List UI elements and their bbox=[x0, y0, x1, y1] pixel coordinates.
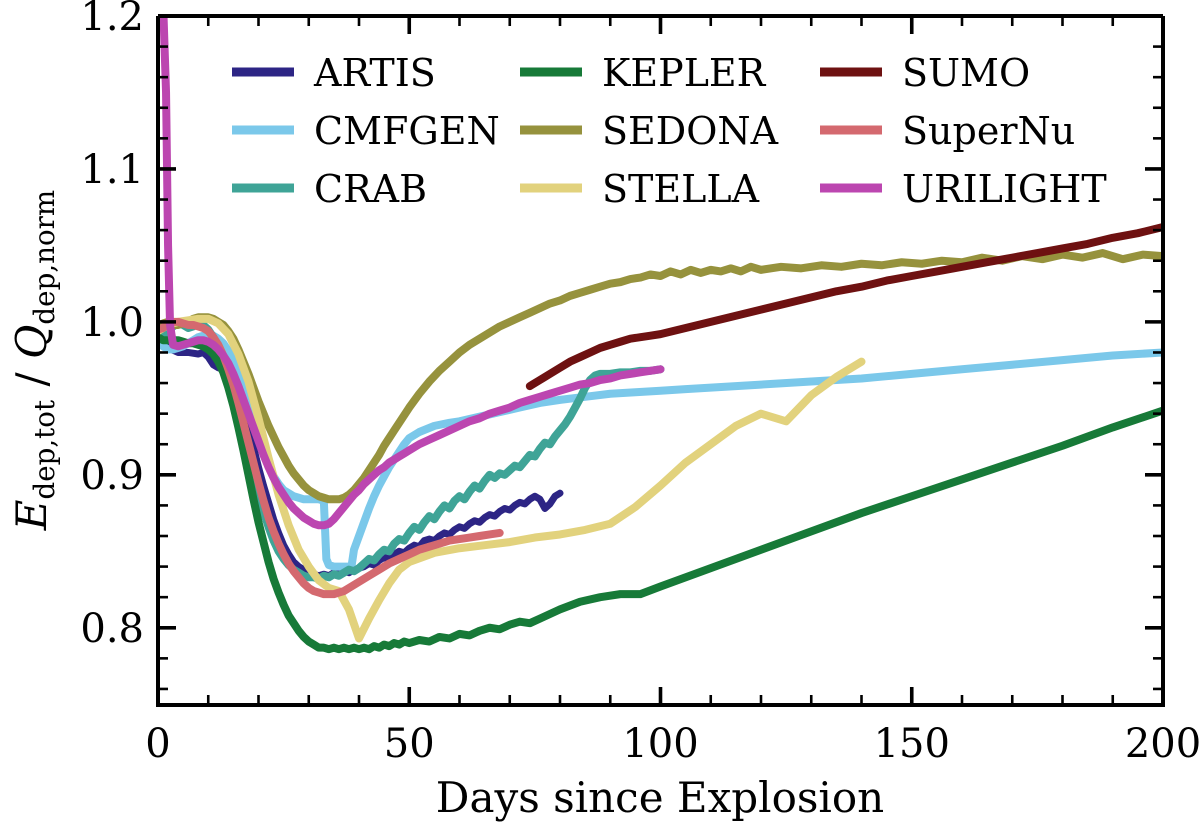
legend-label-kepler: KEPLER bbox=[602, 51, 767, 95]
y-tick-label: 1.0 bbox=[80, 300, 144, 346]
y-tick-label: 1.2 bbox=[80, 0, 144, 40]
legend-label-supernu: SuperNu bbox=[902, 109, 1075, 153]
x-axis-title: Days since Explosion bbox=[436, 773, 884, 822]
y-axis-title-q-sub: dep,norm bbox=[28, 190, 61, 325]
y-axis-title-e: E bbox=[7, 500, 56, 532]
legend-label-urilight: URILIGHT bbox=[902, 167, 1107, 211]
x-tick-label: 150 bbox=[874, 721, 950, 767]
y-tick-label: 0.9 bbox=[80, 453, 144, 499]
x-tick-label: 200 bbox=[1125, 721, 1200, 767]
legend-label-crab: CRAB bbox=[314, 167, 427, 211]
legend-label-sedona: SEDONA bbox=[602, 109, 779, 153]
figure-container: 050100150200 0.80.91.01.11.2 Days since … bbox=[0, 0, 1200, 837]
plot-canvas: 050100150200 0.80.91.01.11.2 Days since … bbox=[0, 0, 1200, 837]
legend-label-sumo: SUMO bbox=[902, 51, 1030, 95]
y-tick-label: 1.1 bbox=[80, 147, 144, 193]
legend-label-stella: STELLA bbox=[602, 167, 760, 211]
x-tick-label: 100 bbox=[622, 721, 698, 767]
x-tick-label: 50 bbox=[384, 721, 435, 767]
y-axis-title-q: Q bbox=[7, 325, 56, 359]
legend-label-artis: ARTIS bbox=[313, 51, 436, 95]
legend: ARTISCMFGENCRABKEPLERSEDONASTELLASUMOSup… bbox=[232, 51, 1107, 211]
y-tick-label: 0.8 bbox=[80, 606, 144, 652]
legend-label-cmfgen: CMFGEN bbox=[314, 109, 500, 153]
y-axis-title-e-sub: dep,tot bbox=[28, 400, 61, 500]
x-tick-label: 0 bbox=[145, 721, 170, 767]
y-axis-title-slash: / bbox=[7, 359, 56, 400]
